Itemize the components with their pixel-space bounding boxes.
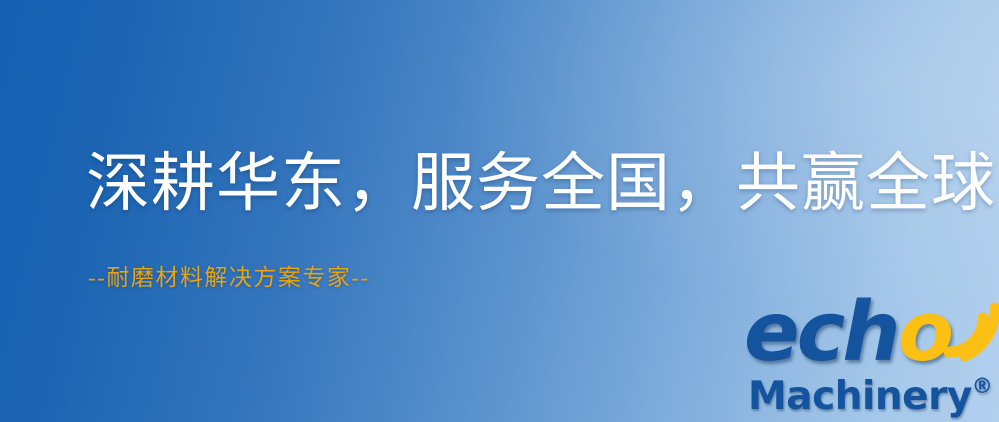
- logo-wordmark: echo: [744, 292, 951, 374]
- promo-banner: 深耕华东，服务全国，共赢全球 --耐磨材料解决方案专家-- echo Machi…: [0, 0, 999, 422]
- banner-subtitle: --耐磨材料解决方案专家--: [88, 266, 370, 289]
- logo-subtext-label: Machinery: [748, 374, 972, 419]
- echo-machinery-logo: echo Machinery®: [744, 292, 999, 422]
- signal-arcs-icon: [929, 290, 999, 362]
- registered-trademark-icon: ®: [972, 374, 993, 398]
- logo-subtext: Machinery®: [748, 376, 993, 416]
- banner-headline: 深耕华东，服务全国，共赢全球: [86, 152, 996, 216]
- logo-wordmark-prefix: ech: [744, 285, 898, 380]
